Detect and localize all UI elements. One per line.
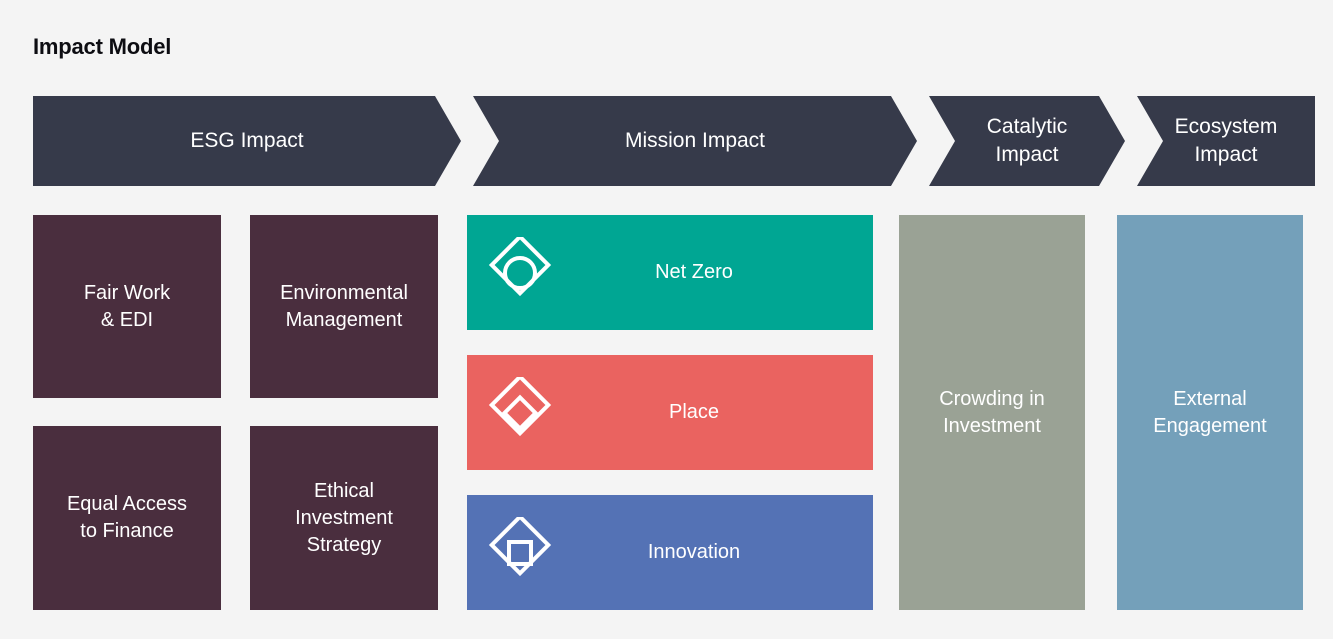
catalytic-box-label: Crowding in Investment [939,386,1045,440]
header-segment-label: ESG Impact [176,127,317,155]
esg-box-ethical-investment-strategy[interactable]: Ethical Investment Strategy [250,426,438,610]
page-title: Impact Model [33,34,171,60]
diamond-square-icon [475,515,571,591]
esg-box-label: Equal Access to Finance [67,491,187,545]
header-chevron-gap-1 [461,96,473,186]
mission-card-label: Net Zero [571,259,873,286]
header-chevron-gap-2 [917,96,929,186]
esg-box-label: Fair Work & EDI [84,280,170,334]
esg-box-environmental-management[interactable]: Environmental Management [250,215,438,398]
catalytic-column: Crowding in Investment [899,215,1085,610]
mission-card-label: Innovation [571,539,873,566]
header-segment-label: Ecosystem Impact [1161,113,1292,168]
esg-box-label: Ethical Investment Strategy [295,478,393,559]
header-segment-label: Mission Impact [611,127,779,155]
ecosystem-column: External Engagement [1117,215,1303,610]
ecosystem-box-label: External Engagement [1153,386,1266,440]
mission-card-innovation[interactable]: Innovation [467,495,873,610]
catalytic-box-crowding-in-investment[interactable]: Crowding in Investment [899,215,1085,610]
header-segment-mission-impact[interactable]: Mission Impact [473,96,917,186]
esg-box-label: Environmental Management [280,280,408,334]
header-segment-catalytic-impact[interactable]: Catalytic Impact [929,96,1125,186]
esg-box-fair-work-edi[interactable]: Fair Work & EDI [33,215,221,398]
mission-column: Net Zero Place Innovat [467,215,873,610]
mission-card-label: Place [571,399,873,426]
diamond-diamond-icon [475,375,571,451]
esg-subcolumn-1: Fair Work & EDI Equal Access to Finance [33,215,221,610]
header-segment-ecosystem-impact[interactable]: Ecosystem Impact [1137,96,1315,186]
ecosystem-box-external-engagement[interactable]: External Engagement [1117,215,1303,610]
diamond-circle-icon [475,235,571,311]
impact-stage-header-band: ESG Impact Mission Impact Catalytic Impa… [33,96,1303,186]
esg-box-equal-access-to-finance[interactable]: Equal Access to Finance [33,426,221,610]
header-segment-esg-impact[interactable]: ESG Impact [33,96,461,186]
header-chevron-gap-3 [1125,96,1137,186]
impact-columns: Fair Work & EDI Equal Access to Finance … [33,215,1303,610]
mission-card-place[interactable]: Place [467,355,873,470]
esg-subcolumn-2: Environmental Management Ethical Investm… [250,215,438,610]
mission-card-net-zero[interactable]: Net Zero [467,215,873,330]
header-segment-label: Catalytic Impact [973,113,1082,168]
impact-model-diagram: Impact Model ESG Impact Mission Impact C… [0,0,1333,639]
